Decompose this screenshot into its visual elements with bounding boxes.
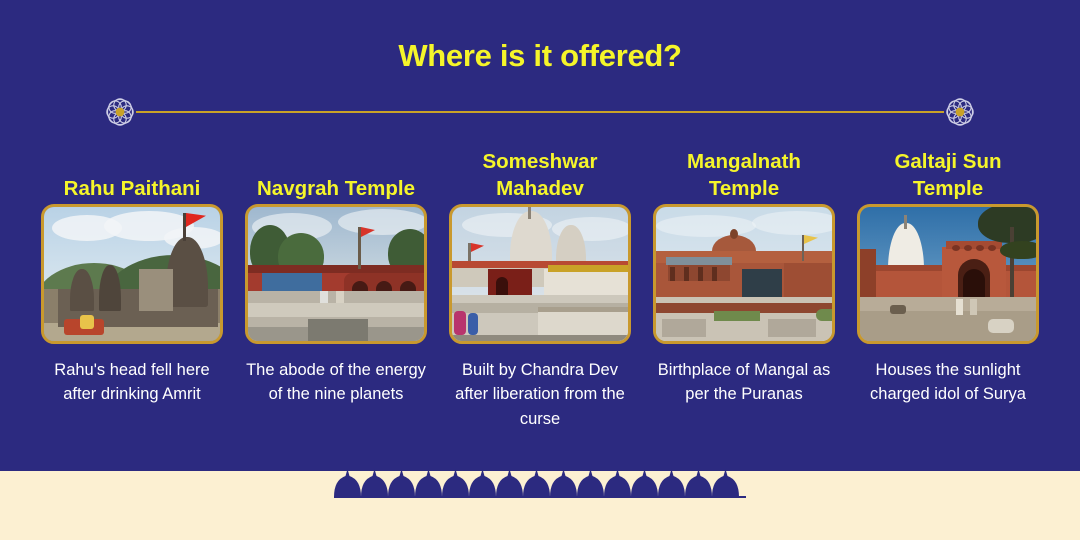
card-caption: Houses the sunlight charged idol of Sury… [853,358,1043,407]
mangalnath-temple-photo [656,207,832,341]
card-photo-frame [245,204,427,344]
page-title: Where is it offered? [0,38,1080,74]
navgrah-temple-photo [248,207,424,341]
temple-card-list: Rahu Paithani [0,132,1080,471]
card-title: Someshwar Mahadev [449,146,631,204]
galtaji-sun-temple-photo [860,207,1036,341]
rosette-right-icon [940,92,980,132]
rahu-paithani-temple-photo [44,207,220,341]
temple-card[interactable]: Someshwar Mahadev [449,146,631,471]
card-title: Rahu Paithani [64,146,201,204]
temple-card[interactable]: Navgrah Temple [245,146,427,471]
rosette-left-icon [100,92,140,132]
card-photo-frame [653,204,835,344]
divider-line [136,111,944,113]
card-caption: Built by Chandra Dev after liberation fr… [445,358,635,431]
card-title: Mangalnath Temple [653,146,835,204]
card-caption: Rahu's head fell here after drinking Amr… [37,358,227,407]
card-caption: The abode of the energy of the nine plan… [241,358,431,407]
slide-root: Where is it offered? [0,0,1080,540]
card-photo-frame [41,204,223,344]
card-caption: Birthplace of Mangal as per the Puranas [649,358,839,407]
dome-border-ornament [334,463,746,518]
footer-band [0,471,1080,540]
page-title-container: Where is it offered? [0,0,1080,74]
temple-card[interactable]: Galtaji Sun Temple [857,146,1039,471]
temple-card[interactable]: Mangalnath Temple [653,146,835,471]
card-title: Navgrah Temple [257,146,415,204]
card-photo-frame [857,204,1039,344]
divider [100,92,980,132]
someshwar-mahadev-photo [452,207,628,341]
card-photo-frame [449,204,631,344]
card-title: Galtaji Sun Temple [857,146,1039,204]
temple-card[interactable]: Rahu Paithani [41,146,223,471]
